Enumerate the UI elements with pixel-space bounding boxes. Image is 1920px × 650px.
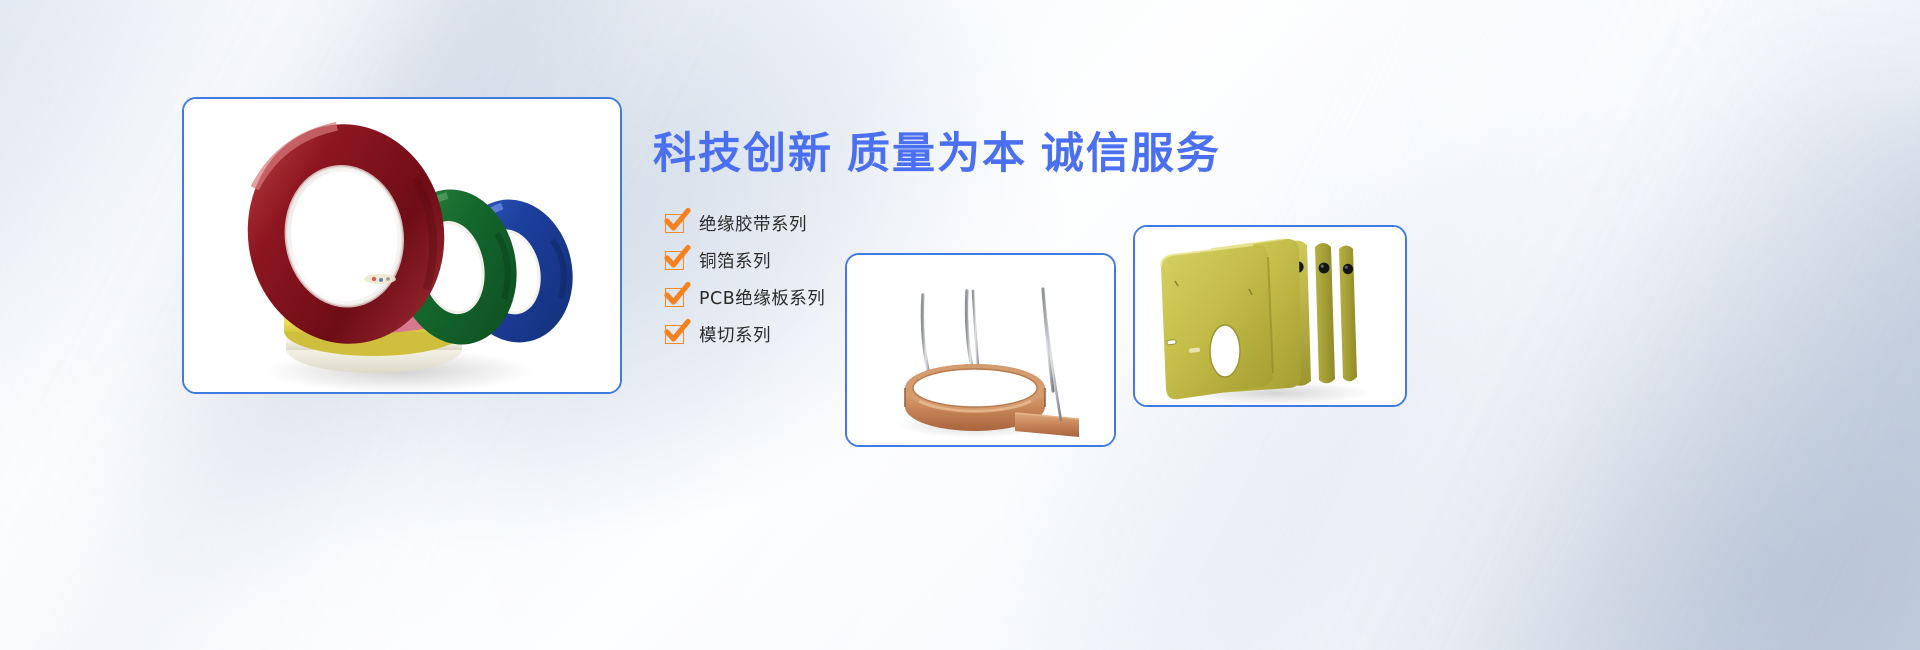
promo-banner: 科技创新 质量为本 诚信服务 绝缘胶带系列 铜箔系列 [0,0,1920,650]
insulation-tape-rolls-image [184,99,620,392]
list-item-label: 模切系列 [699,322,771,347]
checkmark-icon [665,251,684,270]
epoxy-insulation-boards-image [1135,227,1405,405]
checkmark-glyph [664,208,691,235]
page-title: 科技创新 质量为本 诚信服务 [653,126,1293,182]
epoxy-board-1 [1161,245,1273,400]
product-card-copper-foil[interactable] [845,253,1116,447]
product-card-insulation-tape[interactable] [182,97,622,394]
tape-core-label [364,274,396,284]
checkmark-icon [665,288,684,307]
checkmark-icon [665,325,684,344]
tape-rolls-illustration [184,99,620,392]
product-card-epoxy-board[interactable] [1133,225,1407,407]
checkmark-glyph [664,245,691,272]
checkmark-glyph [664,282,691,309]
epoxy-boards-illustration [1135,227,1405,405]
checkmark-icon [665,214,684,233]
checkmark-glyph [664,319,691,346]
list-item-label: 铜箔系列 [699,248,771,273]
list-item-label: 绝缘胶带系列 [699,211,807,236]
list-item-label: PCB绝缘板系列 [699,285,825,310]
copper-foil-illustration [847,255,1114,445]
list-item[interactable]: 绝缘胶带系列 [665,205,1025,241]
copper-foil-coil-image [847,255,1114,445]
light-streak-4 [1358,12,1920,650]
